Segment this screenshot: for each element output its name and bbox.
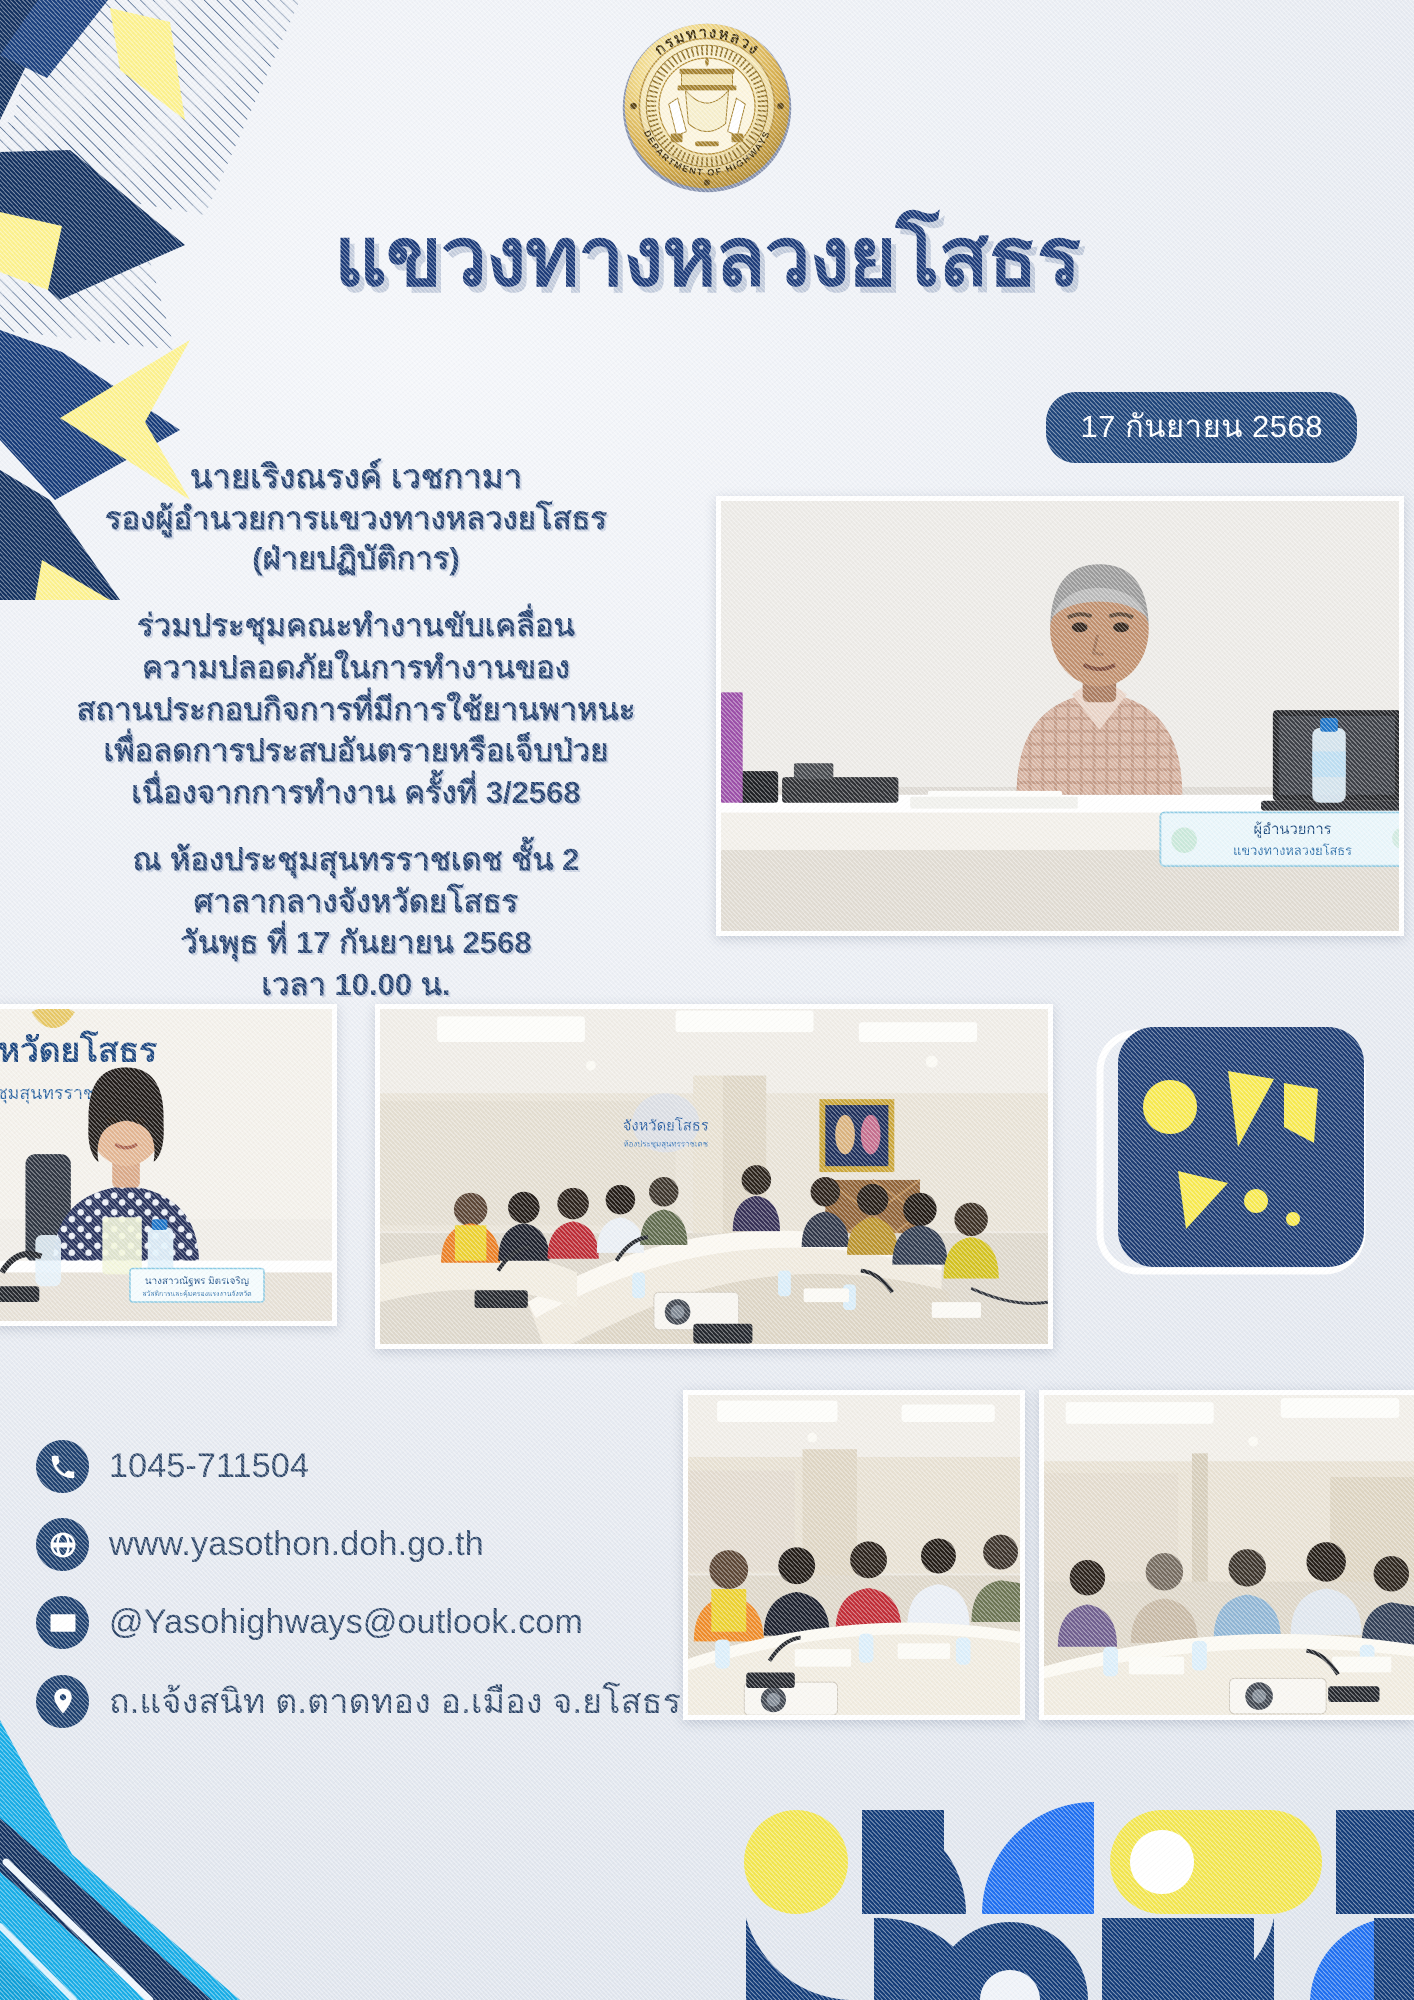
photo-main-deputy-director: ผู้อำนวยการ แขวงทางหลวงยโสธร [716,496,1404,936]
venue-line: เวลา 10.00 น. [56,964,656,1006]
svg-text:สวัสดิการและคุ้มครองแรงงานจังห: สวัสดิการและคุ้มครองแรงงานจังหวัด [142,1290,251,1298]
decoration-doh-geometric-logo [714,1770,1414,2000]
info-column: นายเริงณรงค์ เวชกามา รองผู้อำนวยการแขวงท… [56,456,656,1005]
venue-line: ศาลากลางจังหวัดยโสธร [56,881,656,923]
description-line: เนื่องจากการทำงาน ครั้งที่ 3/2568 [56,772,656,814]
meeting-description: ร่วมประชุมคณะทำงานขับเคลื่อน ความปลอดภัย… [56,605,656,813]
svg-text:หวัดยโสธร: หวัดยโสธร [0,1031,157,1070]
contact-address-value: ถ.แจ้งสนิท ต.ตาดทอง อ.เมือง จ.ยโสธร [109,1674,681,1728]
photo-attendees-left [683,1390,1025,1720]
svg-text:นางสาวณัฐพร มิตรเจริญ: นางสาวณัฐพร มิตรเจริญ [145,1276,249,1287]
svg-text:ผู้อำนวยการ: ผู้อำนวยการ [1254,821,1332,838]
phone-icon [36,1440,89,1493]
globe-icon [36,1518,89,1571]
svg-text:ะชุมสุนทรราช: ะชุมสุนทรราช [0,1083,95,1104]
venue-details: ณ ห้องประชุมสุนทรราชเดช ชั้น 2 ศาลากลางจ… [56,839,656,1005]
svg-text:จังหวัดยโสธร: จังหวัดยโสธร [623,1117,709,1135]
photo-female-chairperson: หวัดยโสธร ะชุมสุนทรราช [0,1004,337,1326]
contact-list: 1045-711504 www.yasothon.doh.go.th @Yaso… [36,1440,681,1753]
description-line: ความปลอดภัยในการทำงานของ [56,647,656,689]
contact-website[interactable]: www.yasothon.doh.go.th [36,1518,681,1571]
poster-canvas: กรมทางหลวง DEPARTMENT OF HIGHWAYS แขวงทา… [0,0,1414,2000]
email-icon [36,1596,89,1649]
venue-line: วันพุธ ที่ 17 กันยายน 2568 [56,922,656,964]
svg-text:ห้องประชุมสุนทรราชเดช: ห้องประชุมสุนทรราชเดช [623,1139,708,1148]
description-line: ร่วมประชุมคณะทำงานขับเคลื่อน [56,605,656,647]
contact-email[interactable]: @Yasohighways@outlook.com [36,1596,681,1649]
location-pin-icon [36,1675,89,1728]
person-name: นายเริงณรงค์ เวชกามา [56,456,656,499]
contact-website-value: www.yasothon.doh.go.th [109,1525,484,1564]
person-role-line2: (ฝ่ายปฏิบัติการ) [56,539,656,579]
photo-meeting-room-wide: จังหวัดยโสธร ห้องประชุมสุนทรราชเดช [375,1004,1053,1349]
description-line: สถานประกอบกิจการที่มีการใช้ยานพาหนะ [56,689,656,731]
description-line: เพื่อลดการประสบอันตรายหรือเจ็บป่วย [56,730,656,772]
photo-attendees-right [1039,1390,1414,1720]
contact-address[interactable]: ถ.แจ้งสนิท ต.ตาดทอง อ.เมือง จ.ยโสธร [36,1674,681,1728]
svg-text:แขวงทางหลวงยโสธร: แขวงทางหลวงยโสธร [1233,843,1352,858]
decoration-navy-tile [1078,1023,1378,1285]
contact-email-value: @Yasohighways@outlook.com [109,1603,583,1642]
page-title: แขวงทางหลวงยโสธร [0,212,1414,304]
date-badge: 17 กันยายน 2568 [1046,392,1357,463]
person-role-line1: รองผู้อำนวยการแขวงทางหลวงยโสธร [56,499,656,539]
venue-line: ณ ห้องประชุมสุนทรราชเดช ชั้น 2 [56,839,656,881]
contact-phone[interactable]: 1045-711504 [36,1440,681,1493]
contact-phone-value: 1045-711504 [109,1447,309,1486]
department-of-highways-emblem: กรมทางหลวง DEPARTMENT OF HIGHWAYS [609,8,805,208]
